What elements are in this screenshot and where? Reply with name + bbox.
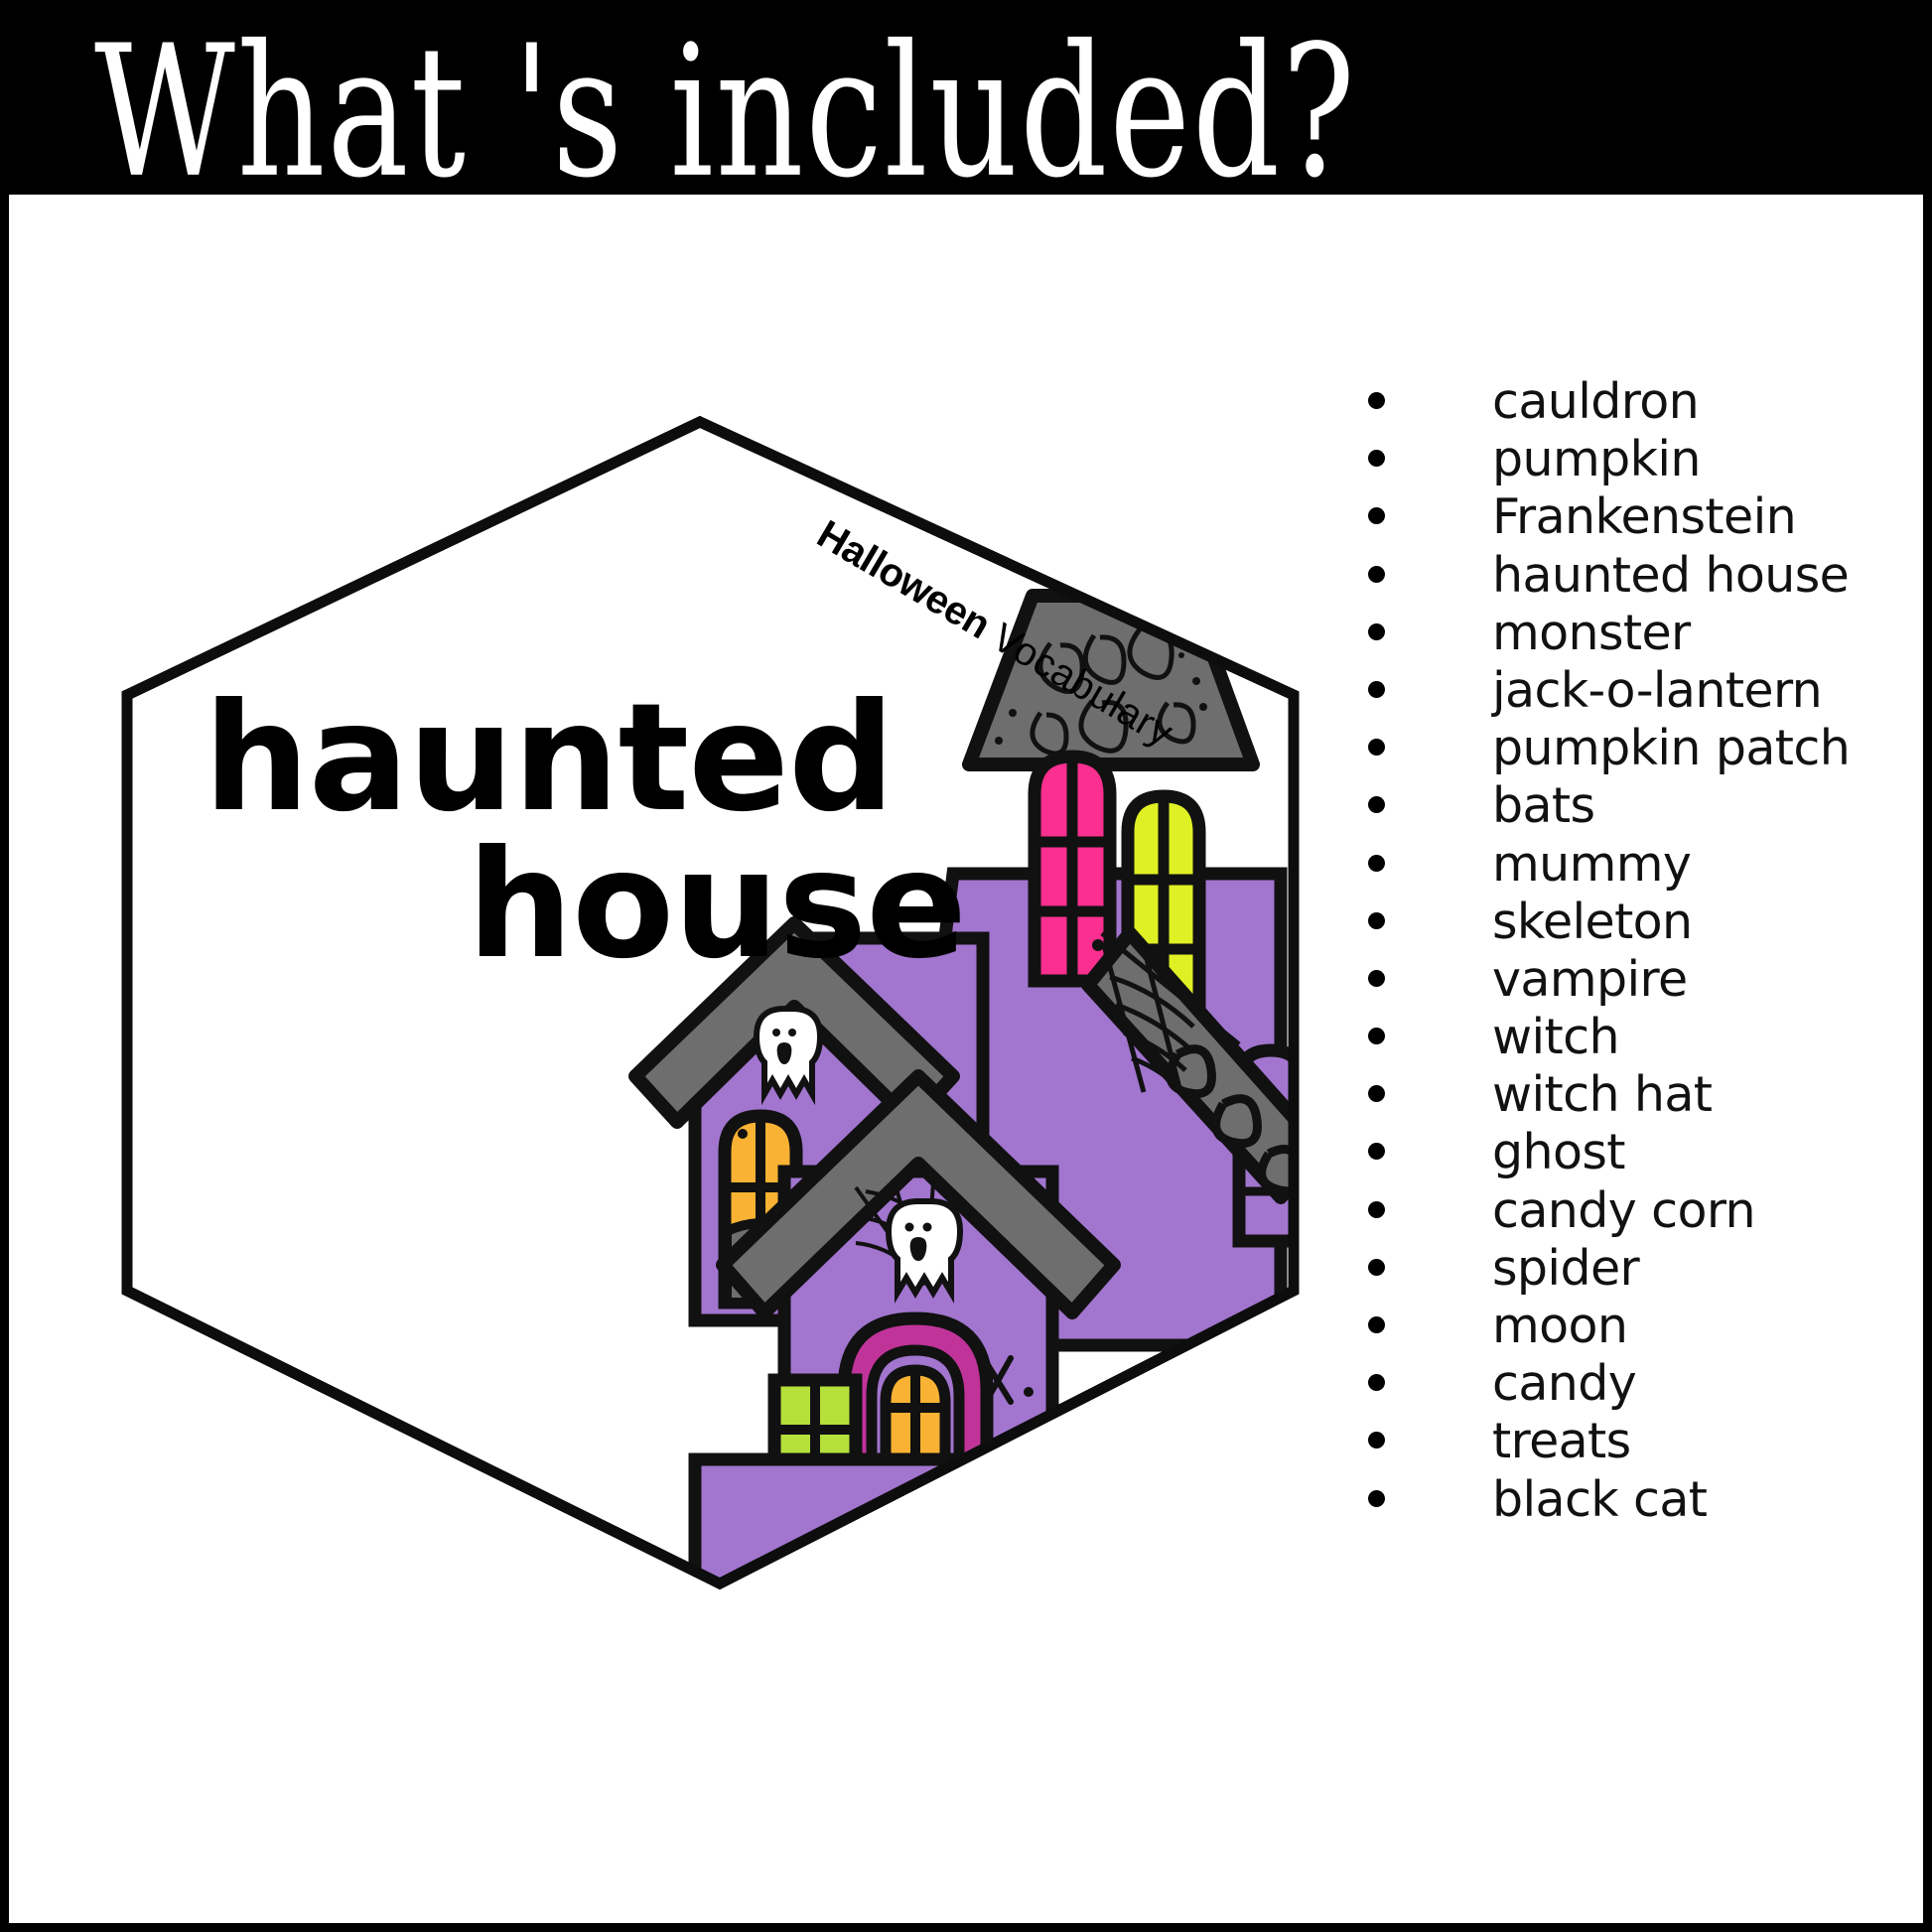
bullet-icon (1368, 450, 1385, 467)
list-item-label: jack-o-lantern (1492, 662, 1822, 720)
vocabulary-card[interactable]: Halloween Vocabulary haunted house (0, 0, 1390, 1737)
skull-icon (889, 1201, 960, 1293)
list-item: cauldron (1360, 375, 1916, 433)
card-word: haunted house (204, 685, 988, 979)
card-word-line1: haunted (204, 685, 988, 832)
list-item: monster (1360, 607, 1916, 664)
list-item-label: witch hat (1492, 1066, 1712, 1124)
list-item-label: candy corn (1492, 1182, 1755, 1240)
bullet-icon (1368, 1374, 1385, 1391)
slide-page: What 's included? (0, 0, 1932, 1932)
bullet-icon (1368, 855, 1385, 872)
list-item: Frankenstein (1360, 490, 1916, 548)
card-word-line2: house (204, 832, 988, 979)
list-item-label: skeleton (1492, 894, 1693, 951)
list-item-label: monster (1492, 605, 1691, 662)
bullet-icon (1368, 623, 1385, 640)
bullet-icon (1368, 1085, 1385, 1102)
list-item-label: vampire (1492, 951, 1688, 1009)
list-item-label: mummy (1492, 836, 1691, 894)
list-item: witch (1360, 1011, 1916, 1068)
frame-border-bottom (0, 1923, 1932, 1932)
vocabulary-list: cauldron pumpkin Frankenstein haunted ho… (1360, 375, 1916, 1531)
list-item: moon (1360, 1300, 1916, 1357)
bullet-icon (1368, 970, 1385, 987)
list-item-label: Frankenstein (1492, 488, 1796, 546)
list-item: pumpkin (1360, 433, 1916, 490)
bullet-icon (1368, 681, 1385, 698)
list-item-label: pumpkin (1492, 431, 1701, 488)
list-item-label: bats (1492, 777, 1594, 835)
list-item-label: pumpkin patch (1492, 720, 1850, 777)
bullet-icon (1368, 1490, 1385, 1507)
list-item: candy (1360, 1357, 1916, 1415)
list-item-label: cauldron (1492, 373, 1699, 431)
bullet-icon (1368, 507, 1385, 524)
list-item: witch hat (1360, 1068, 1916, 1126)
list-item-label: treats (1492, 1413, 1631, 1470)
bullet-icon (1368, 1432, 1385, 1449)
list-item: bats (1360, 779, 1916, 837)
list-item: ghost (1360, 1126, 1916, 1183)
list-item-label: witch (1492, 1009, 1619, 1066)
list-item: mummy (1360, 838, 1916, 896)
bullet-icon (1368, 392, 1385, 409)
list-item-label: spider (1492, 1240, 1639, 1298)
bullet-icon (1368, 912, 1385, 929)
bullet-icon (1368, 739, 1385, 756)
bullet-icon (1368, 1201, 1385, 1218)
list-item: vampire (1360, 953, 1916, 1011)
list-item-label: ghost (1492, 1124, 1625, 1181)
list-item-label: moon (1492, 1298, 1627, 1355)
list-item: jack-o-lantern (1360, 664, 1916, 722)
list-item-label: haunted house (1492, 547, 1849, 605)
bullet-icon (1368, 1143, 1385, 1160)
bullet-icon (1368, 796, 1385, 813)
bullet-icon (1368, 1028, 1385, 1044)
list-item-label: black cat (1492, 1471, 1707, 1529)
list-item-label: candy (1492, 1355, 1636, 1413)
list-item: spider (1360, 1242, 1916, 1300)
list-item: haunted house (1360, 549, 1916, 607)
list-item: skeleton (1360, 896, 1916, 953)
bullet-icon (1368, 1259, 1385, 1276)
bullet-icon (1368, 566, 1385, 583)
frame-border-right (1923, 0, 1932, 1932)
bullet-icon (1368, 1316, 1385, 1333)
list-item: treats (1360, 1415, 1916, 1472)
ghost-icon (757, 1009, 820, 1094)
list-item: black cat (1360, 1473, 1916, 1531)
list-item: pumpkin patch (1360, 722, 1916, 779)
list-item: candy corn (1360, 1184, 1916, 1242)
